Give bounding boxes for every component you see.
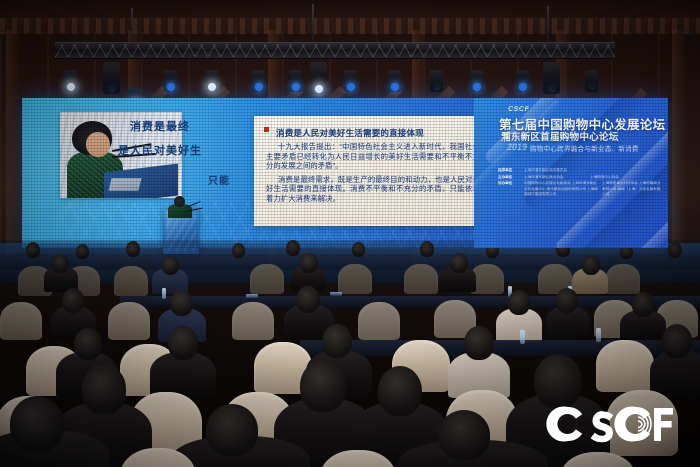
stage-light bbox=[164, 70, 177, 92]
lamp-lens-icon bbox=[255, 83, 263, 91]
audience-head bbox=[162, 256, 179, 275]
audience-head bbox=[170, 290, 193, 316]
kv-subtitle: 浦东新区首届购物中心论坛 bbox=[501, 129, 668, 143]
water-bottle bbox=[596, 328, 601, 342]
truss-rigging-drop bbox=[312, 4, 314, 44]
audience-head bbox=[168, 326, 198, 360]
cscf-watermark-logo bbox=[536, 398, 676, 450]
presentation-slide-panel: 消费是人民对美好生活需要的直接体现 十九大报告提出：“中国特色社会主义进入新时代… bbox=[254, 116, 492, 226]
lamp-lens-icon bbox=[347, 83, 355, 91]
lamp-lens-icon bbox=[433, 83, 441, 91]
slide-paragraph: 十九大报告提出：“中国特色社会主义进入新时代，我国社会主要矛盾已经转化为人民日益… bbox=[266, 142, 480, 171]
audience-head bbox=[52, 254, 69, 273]
audience-head bbox=[352, 242, 365, 257]
stage-light bbox=[310, 62, 327, 94]
audience-head bbox=[450, 253, 468, 273]
cscf-letter-f bbox=[654, 408, 673, 441]
audience-head bbox=[62, 288, 84, 313]
lamp-lens-icon bbox=[519, 83, 527, 91]
audience-head bbox=[556, 288, 578, 313]
truss-rigging-drop bbox=[131, 8, 133, 44]
audience-head bbox=[378, 366, 422, 416]
kv-cscf-logo: CSCF bbox=[508, 106, 529, 113]
keynote-speaker-head bbox=[174, 196, 185, 207]
audience-head bbox=[232, 243, 245, 258]
stage-light bbox=[543, 62, 560, 94]
kv-credit-label: 主办单位 bbox=[498, 175, 520, 181]
stage-light bbox=[585, 70, 598, 92]
led-wall-screen: 消费是最终 是人民对美好生 只能 消费是人民对美好生活需要的直接体现 十九大报告… bbox=[22, 98, 668, 248]
audience-head bbox=[10, 396, 64, 452]
kv-credit-col: 上海市浦东新区商业协会 bbox=[524, 175, 586, 181]
audience-head bbox=[438, 410, 490, 460]
slide-bullet-square-icon bbox=[264, 127, 269, 132]
lamp-lens-icon bbox=[473, 83, 481, 91]
audience-head bbox=[26, 242, 40, 258]
audience-chair bbox=[596, 340, 654, 392]
audience-chair bbox=[108, 302, 150, 340]
audience-chair bbox=[338, 264, 372, 294]
slide-heading: 消费是人民对美好生活需要的直接体现 bbox=[276, 127, 482, 139]
audience-head bbox=[296, 286, 320, 313]
audience-head bbox=[286, 240, 300, 256]
lamp-lens-icon bbox=[315, 85, 323, 93]
kv-credit-label: 指导单位 bbox=[498, 168, 520, 174]
stage-light bbox=[470, 70, 483, 92]
laptop-screen-glow bbox=[246, 294, 258, 298]
kv-credit-col bbox=[590, 168, 652, 174]
audience-head bbox=[76, 244, 89, 259]
lamp-lens-icon bbox=[391, 83, 399, 91]
kv-credit-col: 上海市浦东新区商务委员会 bbox=[524, 168, 586, 174]
audience-head bbox=[74, 328, 102, 360]
cscf-letter-c bbox=[546, 407, 582, 442]
stage-light bbox=[252, 70, 265, 92]
stage-light bbox=[289, 70, 302, 92]
lamp-lens-icon bbox=[167, 83, 175, 91]
stage-light bbox=[64, 70, 77, 92]
audience-chair bbox=[404, 264, 438, 294]
lamp-lens-icon bbox=[108, 85, 116, 93]
audience-chair bbox=[0, 302, 42, 340]
audience-chair bbox=[358, 302, 400, 340]
wall-pillar bbox=[672, 30, 686, 270]
audience-head bbox=[508, 290, 530, 315]
conference-hall-photo: 消费是最终 是人民对美好生 只能 消费是人民对美好生活需要的直接体现 十九大报告… bbox=[0, 0, 700, 467]
audience-head bbox=[300, 360, 346, 412]
truss-rigging-drop bbox=[547, 6, 549, 44]
kv-year: 2019 bbox=[507, 142, 527, 152]
lamp-lens-icon bbox=[588, 83, 596, 91]
stage-light bbox=[205, 70, 218, 92]
audience-head bbox=[662, 324, 692, 358]
stage-light bbox=[344, 70, 357, 92]
kv-credit-col: 中国购物中心发展论坛组委会 上海市浦东新区文化会展中心 现代服务业股份有限公司 … bbox=[524, 181, 598, 198]
feed-speaker-face bbox=[86, 132, 110, 157]
audience-head bbox=[300, 253, 318, 273]
audience-chair bbox=[250, 264, 284, 294]
audience-head bbox=[206, 404, 258, 456]
laptop-screen-glow bbox=[330, 292, 342, 296]
lamp-lens-icon bbox=[208, 83, 216, 91]
lamp-lens-icon bbox=[292, 83, 300, 91]
screen-overlay-line-1: 消费是最终 bbox=[130, 118, 190, 134]
lamp-lens-icon bbox=[67, 83, 75, 91]
audience-head bbox=[582, 255, 600, 275]
slide-paragraph: 消费是最终需求，既是生产的最终目的和动力，也是人民对美好生活需要的直接体现。消费… bbox=[266, 175, 480, 204]
audience-head bbox=[632, 292, 654, 317]
screen-overlay-line-3: 只能 bbox=[208, 172, 230, 187]
kv-credit-col: 上海零售商业行业协会 上海恒隆商业有限公司 绿地（上海）文化发展有限公司 bbox=[602, 181, 664, 198]
lighting-truss bbox=[55, 42, 615, 59]
audience-head bbox=[82, 364, 126, 414]
water-bottle bbox=[162, 288, 166, 299]
stage-light bbox=[388, 70, 401, 92]
stage-light bbox=[103, 62, 120, 94]
kv-credit-row: 主办单位 上海市浦东新区商业协会 上海购物中心协会 bbox=[498, 175, 664, 181]
event-key-visual: CSCF 第七届中国购物中心发展论坛 浦东新区首届购物中心论坛 2019 购物中… bbox=[474, 98, 668, 248]
stage-light bbox=[516, 70, 529, 92]
audience-chair bbox=[606, 264, 640, 294]
kv-credits-block: 指导单位 上海市浦东新区商务委员会 主办单位 上海市浦东新区商业协会 上海购物中… bbox=[498, 168, 664, 199]
water-bottle bbox=[520, 330, 525, 344]
screen-overlay-line-2: 是人民对美好生 bbox=[118, 142, 202, 158]
kv-credit-col: 上海购物中心协会 bbox=[590, 175, 652, 181]
audience-head bbox=[126, 241, 140, 257]
kv-credit-row: 指导单位 上海市浦东新区商务委员会 bbox=[498, 168, 664, 174]
audience-chair bbox=[232, 302, 274, 340]
kv-credit-label: 协办单位 bbox=[498, 181, 520, 198]
audience-chair bbox=[114, 266, 148, 296]
cscf-letter-s bbox=[591, 411, 614, 442]
audience-head bbox=[668, 242, 682, 258]
stage-light bbox=[430, 70, 443, 92]
lamp-lens-icon bbox=[548, 85, 556, 93]
kv-theme: 购物中心跨界融合与新业态、新消费 bbox=[530, 143, 639, 153]
audience-head bbox=[464, 326, 494, 360]
feed-laptop bbox=[108, 178, 141, 191]
wall-pillar bbox=[6, 30, 20, 270]
audience-head bbox=[322, 324, 352, 358]
audience-head bbox=[420, 241, 434, 257]
kv-credit-row: 协办单位 中国购物中心发展论坛组委会 上海市浦东新区文化会展中心 现代服务业股份… bbox=[498, 181, 664, 198]
